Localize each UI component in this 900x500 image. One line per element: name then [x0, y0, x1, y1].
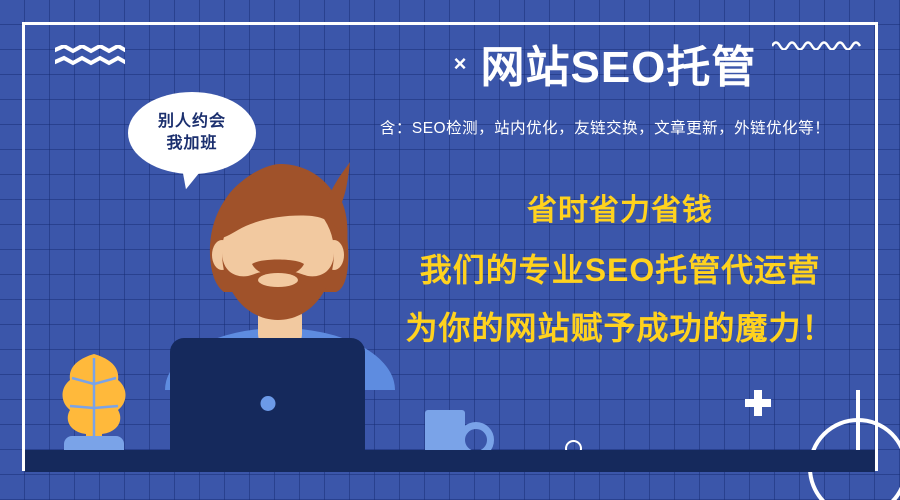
corner-circle-icon	[780, 390, 900, 500]
speech-bubble-line-2: 我加班	[166, 133, 217, 155]
slogan-block: 省时省力省钱 我们的专业SEO托管代运营 为你的网站赋予成功的魔力！	[360, 196, 880, 344]
slogan-line-1: 省时省力省钱	[360, 196, 880, 226]
seo-promo-banner: × 网站SEO托管 含：SEO检测，站内优化，友链交换，文章更新，外链优化等！ …	[0, 0, 900, 500]
laptop-icon	[170, 338, 365, 463]
speech-bubble-line-1: 别人约会	[158, 111, 226, 133]
laptop-logo-icon	[260, 396, 275, 411]
desk-icon	[25, 450, 875, 472]
page-subtitle: 含：SEO检测，站内优化，友链交换，文章更新，外链优化等！	[330, 116, 880, 138]
speech-bubble: 别人约会 我加班	[128, 92, 256, 174]
wave-lines-icon	[55, 45, 125, 67]
slogan-line-2: 我们的专业SEO托管代运营	[360, 254, 880, 286]
plus-icon	[745, 390, 771, 416]
headline-row: × 网站SEO托管	[340, 44, 870, 92]
page-title: 网站SEO托管	[480, 44, 756, 92]
slogan-line-3: 为你的网站赋予成功的魔力！	[360, 312, 880, 344]
potted-plant-icon	[48, 340, 140, 460]
x-mark-icon: ×	[454, 53, 467, 83]
